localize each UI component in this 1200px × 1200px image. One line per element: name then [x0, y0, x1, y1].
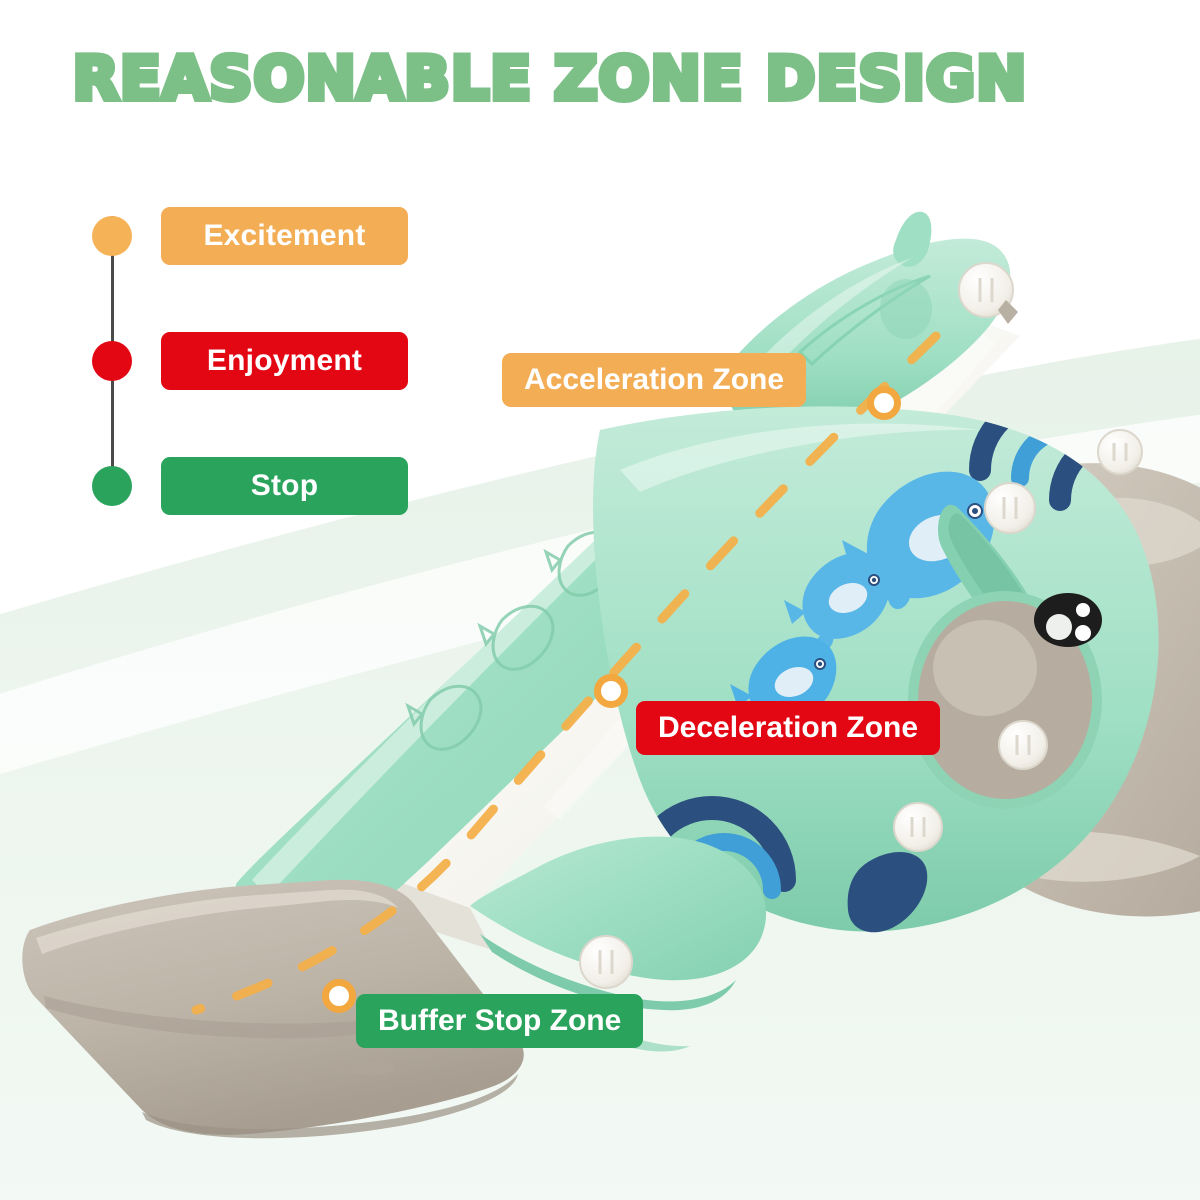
page-title: REASONABLE ZONE DESIGN — [0, 44, 1100, 114]
screw-cap-icon — [580, 936, 632, 988]
callout-label: Acceleration Zone — [524, 363, 784, 397]
legend: Excitement Enjoyment Stop — [42, 198, 402, 518]
callout-deceleration-zone: Deceleration Zone — [636, 701, 940, 755]
infographic-canvas: REASONABLE ZONE DESIGN Excitement Enjoym… — [0, 0, 1200, 1200]
legend-label: Excitement — [203, 219, 365, 253]
legend-dot-enjoyment — [92, 341, 132, 381]
whale-eye-icon — [1034, 593, 1102, 647]
callout-acceleration-zone: Acceleration Zone — [502, 353, 806, 407]
legend-item-excitement: Excitement — [161, 207, 408, 265]
callout-label: Deceleration Zone — [658, 711, 918, 745]
legend-label: Stop — [251, 469, 318, 503]
screw-cap-icon — [999, 721, 1047, 769]
screw-cap-icon — [985, 483, 1035, 533]
ring-marker-icon-buffer-stop — [322, 979, 356, 1013]
ring-marker-icon-deceleration — [594, 674, 628, 708]
callout-buffer-stop-zone: Buffer Stop Zone — [356, 994, 643, 1048]
legend-dot-stop — [92, 466, 132, 506]
ring-marker-icon-acceleration — [867, 386, 901, 420]
legend-item-stop: Stop — [161, 457, 408, 515]
legend-item-enjoyment: Enjoyment — [161, 332, 408, 390]
legend-label: Enjoyment — [207, 344, 362, 378]
legend-dot-excitement — [92, 216, 132, 256]
callout-label: Buffer Stop Zone — [378, 1004, 621, 1038]
screw-cap-icon — [894, 803, 942, 851]
screw-cap-icon — [1098, 430, 1142, 474]
